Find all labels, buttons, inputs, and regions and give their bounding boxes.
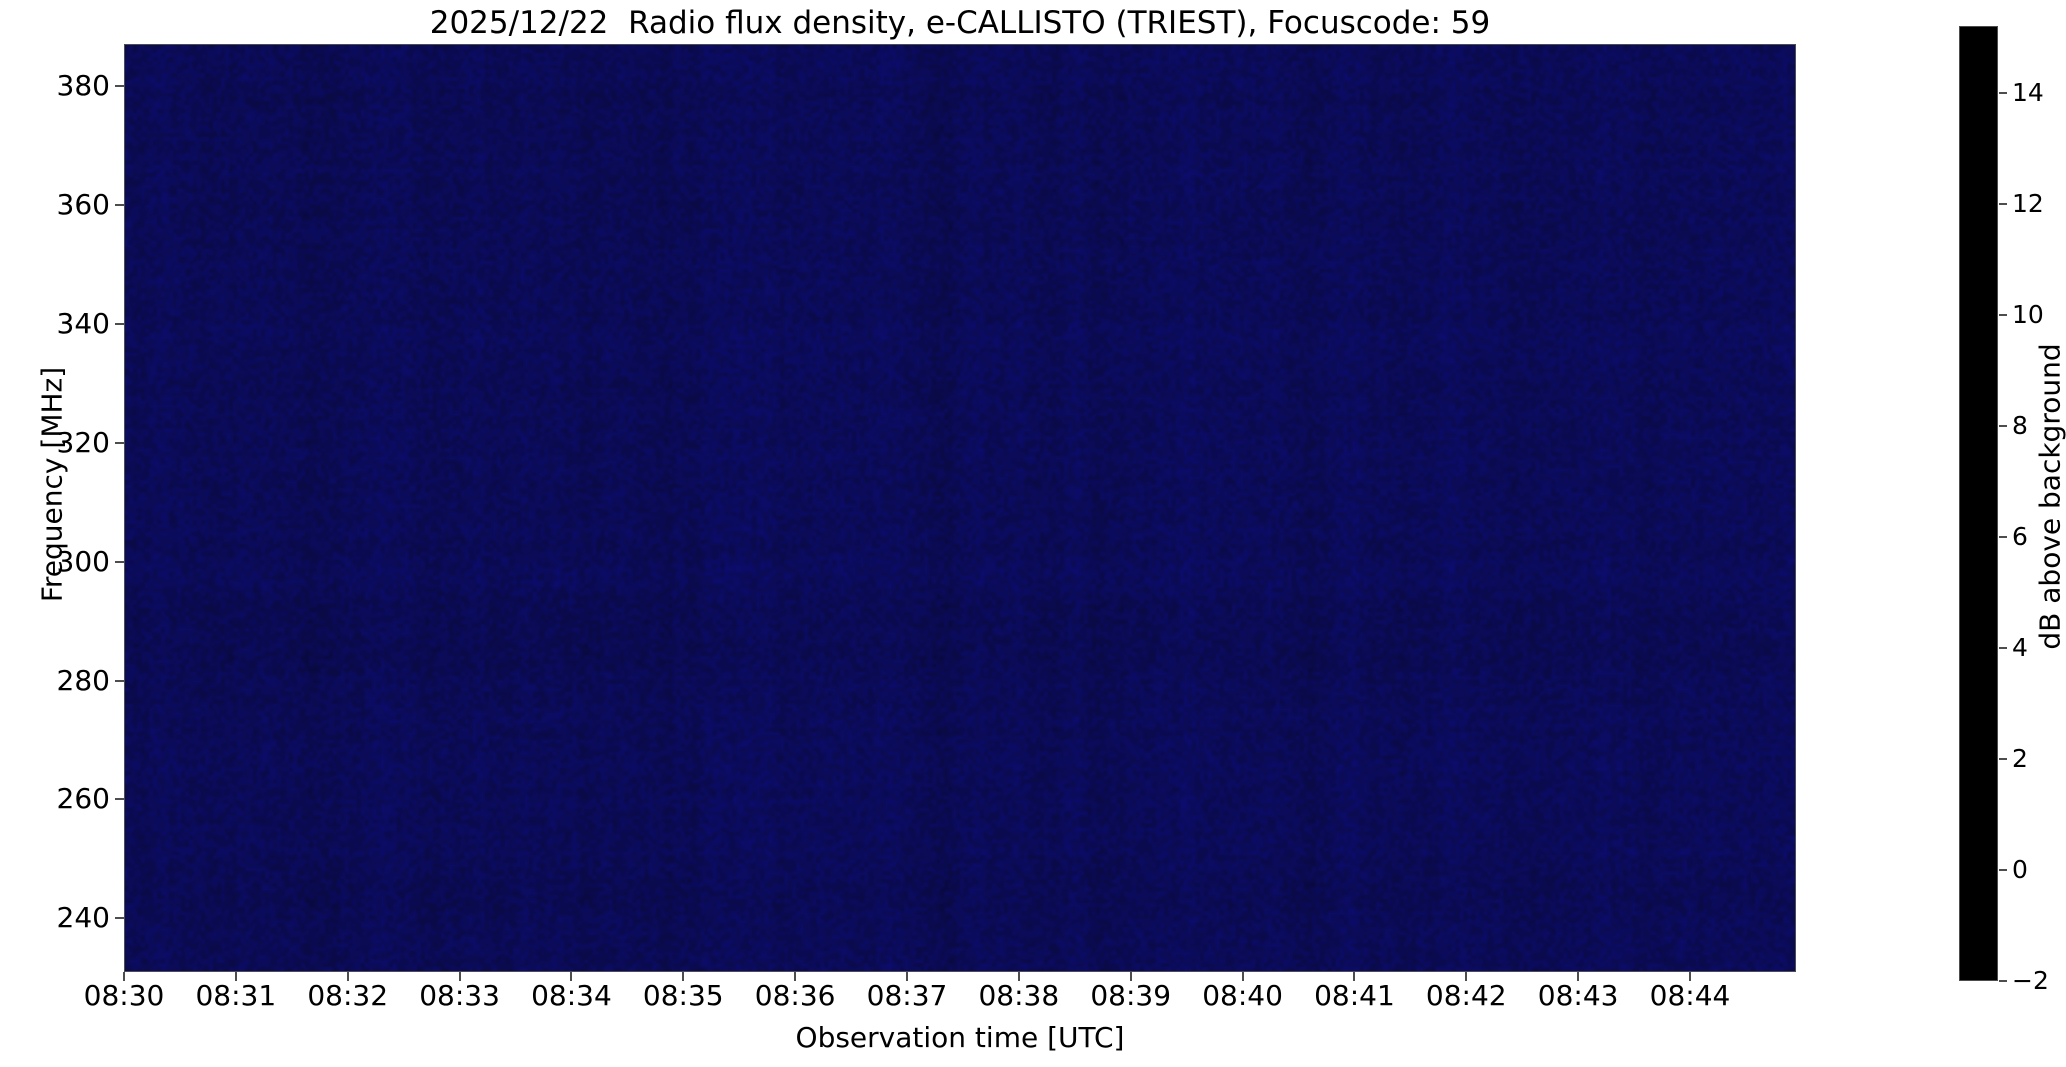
y-tick-label: 300 <box>0 548 110 576</box>
y-tick-label: 340 <box>0 310 110 338</box>
y-tick-mark <box>115 680 124 682</box>
colorbar-tick-mark <box>1999 536 2007 538</box>
colorbar-label: dB above background <box>2034 247 2066 747</box>
colorbar-tick-mark <box>1999 425 2007 427</box>
x-tick-mark <box>1242 972 1244 981</box>
x-tick-label: 08:44 <box>1610 981 1770 1011</box>
y-tick-mark <box>115 561 124 563</box>
x-tick-mark <box>1353 972 1355 981</box>
y-tick-mark <box>115 442 124 444</box>
y-tick-mark <box>115 917 124 919</box>
y-tick-mark <box>115 798 124 800</box>
colorbar-tick-mark <box>1999 314 2007 316</box>
x-tick-mark <box>1689 972 1691 981</box>
colorbar-tick-mark <box>1999 203 2007 205</box>
colorbar-tick-mark <box>1999 92 2007 94</box>
colorbar-tick-mark <box>1999 980 2007 982</box>
y-tick-mark <box>115 323 124 325</box>
x-tick-mark <box>1018 972 1020 981</box>
x-axis-label: Observation time [UTC] <box>124 1021 1796 1054</box>
x-tick-mark <box>570 972 572 981</box>
y-tick-label: 280 <box>0 667 110 695</box>
spectrogram-image <box>125 45 1795 971</box>
x-tick-mark <box>906 972 908 981</box>
x-tick-mark <box>682 972 684 981</box>
y-tick-mark <box>115 204 124 206</box>
figure-canvas: 2025/12/22 Radio flux density, e-CALLIST… <box>0 0 2066 1067</box>
colorbar[interactable] <box>1959 26 1998 981</box>
colorbar-tick-mark <box>1999 758 2007 760</box>
y-tick-label: 240 <box>0 904 110 932</box>
page-title: 2025/12/22 Radio flux density, e-CALLIST… <box>124 6 1796 40</box>
y-tick-label: 380 <box>0 72 110 100</box>
y-tick-label: 360 <box>0 191 110 219</box>
colorbar-tick-label: 14 <box>2012 80 2066 105</box>
x-tick-mark <box>235 972 237 981</box>
colorbar-tick-label: −2 <box>2012 968 2066 993</box>
colorbar-tick-label: 0 <box>2012 857 2066 882</box>
x-tick-mark <box>1465 972 1467 981</box>
y-tick-mark <box>115 85 124 87</box>
colorbar-gradient <box>1960 27 1997 980</box>
x-tick-mark <box>1130 972 1132 981</box>
y-tick-label: 260 <box>0 785 110 813</box>
x-tick-mark <box>794 972 796 981</box>
colorbar-tick-mark <box>1999 869 2007 871</box>
x-tick-mark <box>459 972 461 981</box>
y-tick-label: 320 <box>0 429 110 457</box>
x-tick-mark <box>123 972 125 981</box>
x-tick-mark <box>347 972 349 981</box>
spectrogram-axes[interactable] <box>124 44 1796 972</box>
colorbar-tick-mark <box>1999 647 2007 649</box>
colorbar-tick-label: 2 <box>2012 746 2066 771</box>
colorbar-tick-label: 12 <box>2012 191 2066 216</box>
x-tick-mark <box>1577 972 1579 981</box>
